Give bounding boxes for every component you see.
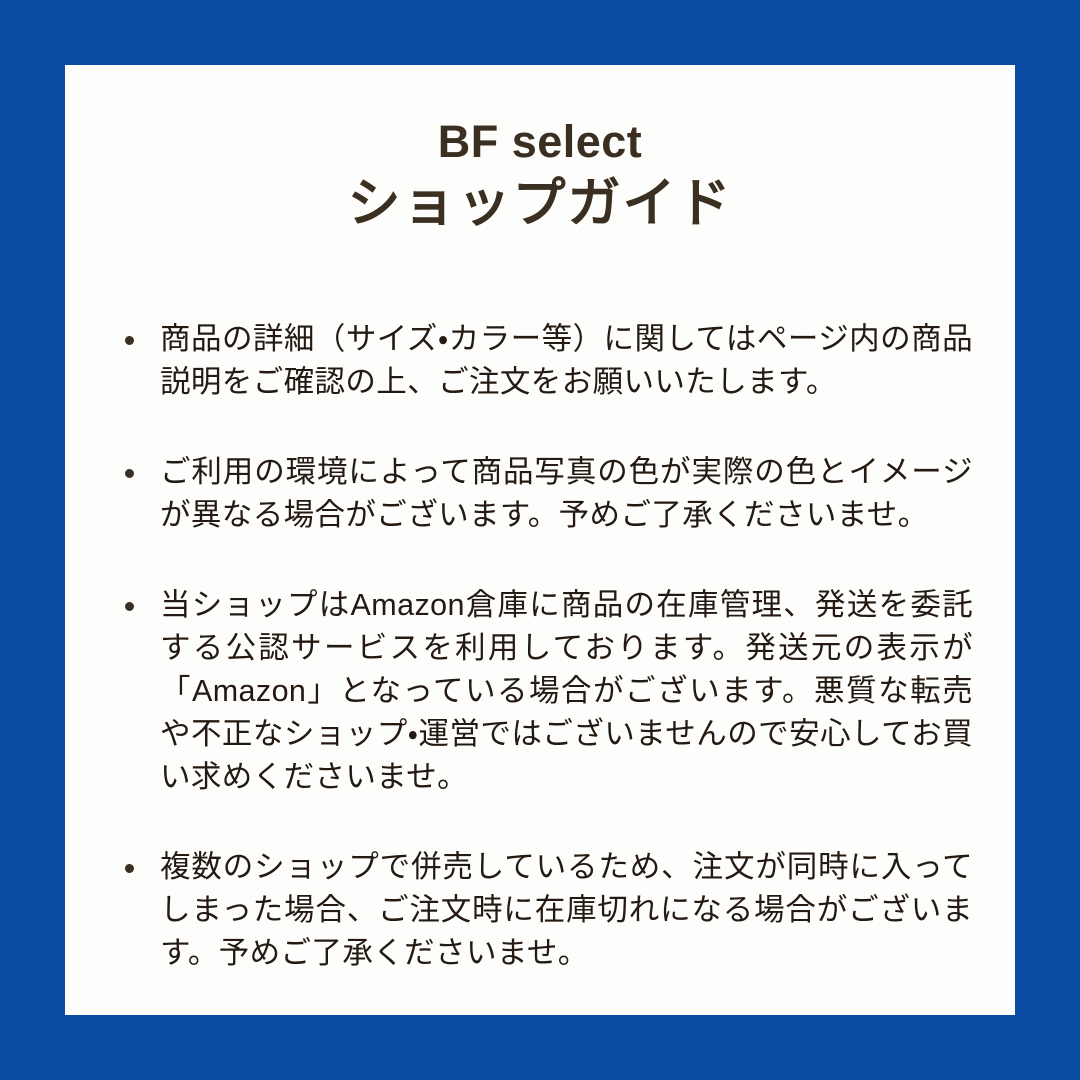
list-item: ご利用の環境によって商品写真の色が実際の色とイメージが異なる場合がございます。予… xyxy=(118,451,973,537)
list-item-text: 商品の詳細（サイズ・カラー等）に関してはページ内の商品説明をご確認の上、ご注文を… xyxy=(160,318,973,404)
page-title: BF select ショップガイド xyxy=(65,115,1015,238)
list-item-text: 当ショップはAmazon倉庫に商品の在庫管理、発送を委託する公認サービスを利用し… xyxy=(160,584,973,799)
bullet-dot-icon xyxy=(125,469,134,478)
guide-card: BF select ショップガイド 商品の詳細（サイズ・カラー等）に関してはペー… xyxy=(65,65,1015,1015)
guide-list: 商品の詳細（サイズ・カラー等）に関してはページ内の商品説明をご確認の上、ご注文を… xyxy=(118,318,973,975)
page-title-subtitle: ショップガイド xyxy=(65,170,1015,238)
bullet-dot-icon xyxy=(125,864,134,873)
blue-frame-background: BF select ショップガイド 商品の詳細（サイズ・カラー等）に関してはペー… xyxy=(0,0,1080,1080)
list-item-text: 複数のショップで併売しているため、注文が同時に入ってしまった場合、ご注文時に在庫… xyxy=(160,846,973,975)
list-item: 当ショップはAmazon倉庫に商品の在庫管理、発送を委託する公認サービスを利用し… xyxy=(118,584,973,799)
page-title-brand: BF select xyxy=(65,115,1015,170)
list-item-text: ご利用の環境によって商品写真の色が実際の色とイメージが異なる場合がございます。予… xyxy=(160,451,973,537)
list-item: 複数のショップで併売しているため、注文が同時に入ってしまった場合、ご注文時に在庫… xyxy=(118,846,973,975)
bullet-dot-icon xyxy=(125,602,134,611)
list-item: 商品の詳細（サイズ・カラー等）に関してはページ内の商品説明をご確認の上、ご注文を… xyxy=(118,318,973,404)
bullet-dot-icon xyxy=(125,336,134,345)
